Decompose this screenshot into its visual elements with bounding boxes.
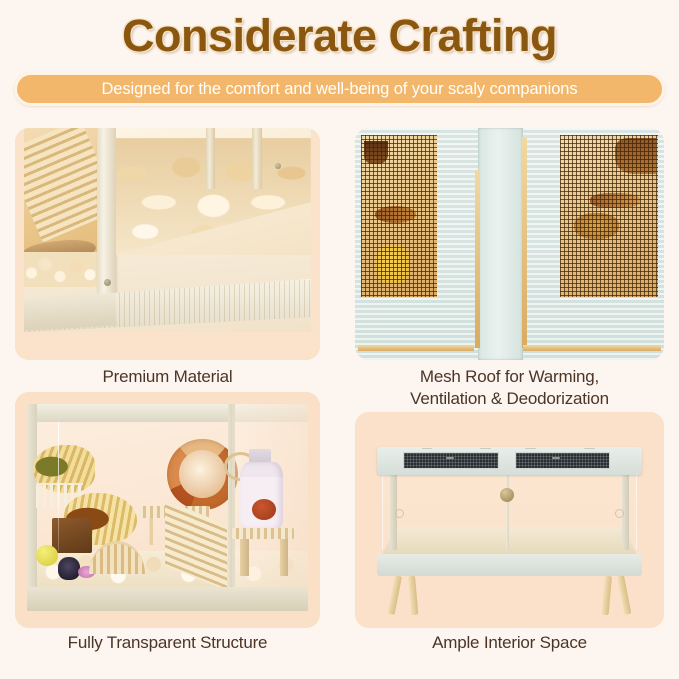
roof-frame <box>377 447 643 476</box>
vent-hole-right <box>615 509 624 518</box>
mesh-lid-left <box>403 452 499 470</box>
feature-card-mesh-roof: Mesh Roof for Warming, Ventilation & Deo… <box>355 128 664 360</box>
shelf-leg-1 <box>240 539 248 576</box>
base-lip <box>24 293 117 330</box>
header-section: Considerate Crafting Designed for the co… <box>0 0 679 106</box>
hinge-3 <box>525 448 536 449</box>
mesh-lid-right <box>515 452 611 470</box>
wooden-ladder <box>24 128 99 242</box>
caption-line-2: Ventilation & Deodorization <box>355 388 664 410</box>
roof-center-seam <box>478 128 523 360</box>
feature-caption-premium-material: Premium Material <box>15 366 320 388</box>
lid-handle-right[interactable] <box>552 457 560 459</box>
hinge-1 <box>422 448 433 449</box>
habitat-body <box>377 447 643 577</box>
lid-handle-left[interactable] <box>446 457 454 459</box>
frame-rail-horizontal-2 <box>523 345 661 351</box>
bottle-shelf <box>232 528 294 538</box>
photo-transparent-structure <box>15 392 320 628</box>
feature-card-ample-interior-space: Ample Interior Space <box>355 412 664 628</box>
enclosure-corner-scene <box>24 128 311 332</box>
center-divider <box>506 475 510 550</box>
bedding-shavings-left <box>24 252 99 287</box>
feature-card-premium-material: Premium Material <box>15 128 320 360</box>
frame-rail-vertical-1 <box>475 170 480 349</box>
photo-mesh-roof <box>355 128 664 360</box>
photo-premium-material <box>15 128 320 360</box>
mesh-panel-right <box>560 135 657 297</box>
feature-grid: Premium Material <box>0 128 679 679</box>
wooden-floor <box>382 527 637 556</box>
right-compartment <box>116 128 311 255</box>
chew-ball-toy <box>36 545 58 566</box>
wheel-inner-disc <box>179 450 227 498</box>
vent-hole-left <box>395 509 404 518</box>
glass-edge-highlight <box>58 422 59 551</box>
plush-figure <box>58 557 80 580</box>
page-title: Considerate Crafting <box>0 8 679 64</box>
water-bottle-label <box>252 499 276 520</box>
habitat-interior <box>27 404 308 612</box>
inner-post-1 <box>206 128 216 189</box>
mesh-panel-left <box>361 135 437 297</box>
feature-caption-mesh-roof: Mesh Roof for Warming, Ventilation & Deo… <box>355 366 664 411</box>
left-compartment <box>24 128 99 287</box>
caption-line-1: Mesh Roof for Warming, <box>355 366 664 388</box>
subtitle-text: Designed for the comfort and well-being … <box>101 80 577 99</box>
photo-ample-interior-space <box>355 412 664 628</box>
inner-post-2 <box>252 128 262 189</box>
bottom-frame <box>27 587 308 612</box>
shelf-leg-2 <box>280 539 288 576</box>
arched-wooden-bridge <box>89 541 145 574</box>
frame-rail-horizontal-1 <box>358 345 474 351</box>
feature-caption-ample-interior-space: Ample Interior Space <box>355 632 664 654</box>
hinge-4 <box>584 448 595 449</box>
subtitle-pill: Designed for the comfort and well-being … <box>14 72 665 106</box>
screw-icon <box>104 279 111 286</box>
screw-icon <box>275 163 281 169</box>
feature-card-transparent-structure: Fully Transparent Structure <box>15 392 320 628</box>
hinge-2 <box>480 448 491 449</box>
frame-rail-vertical-2 <box>522 137 526 348</box>
feature-caption-transparent-structure: Fully Transparent Structure <box>15 632 320 654</box>
left-frame-post <box>27 404 37 612</box>
bottom-frame <box>377 554 643 576</box>
water-bottle <box>240 462 282 531</box>
